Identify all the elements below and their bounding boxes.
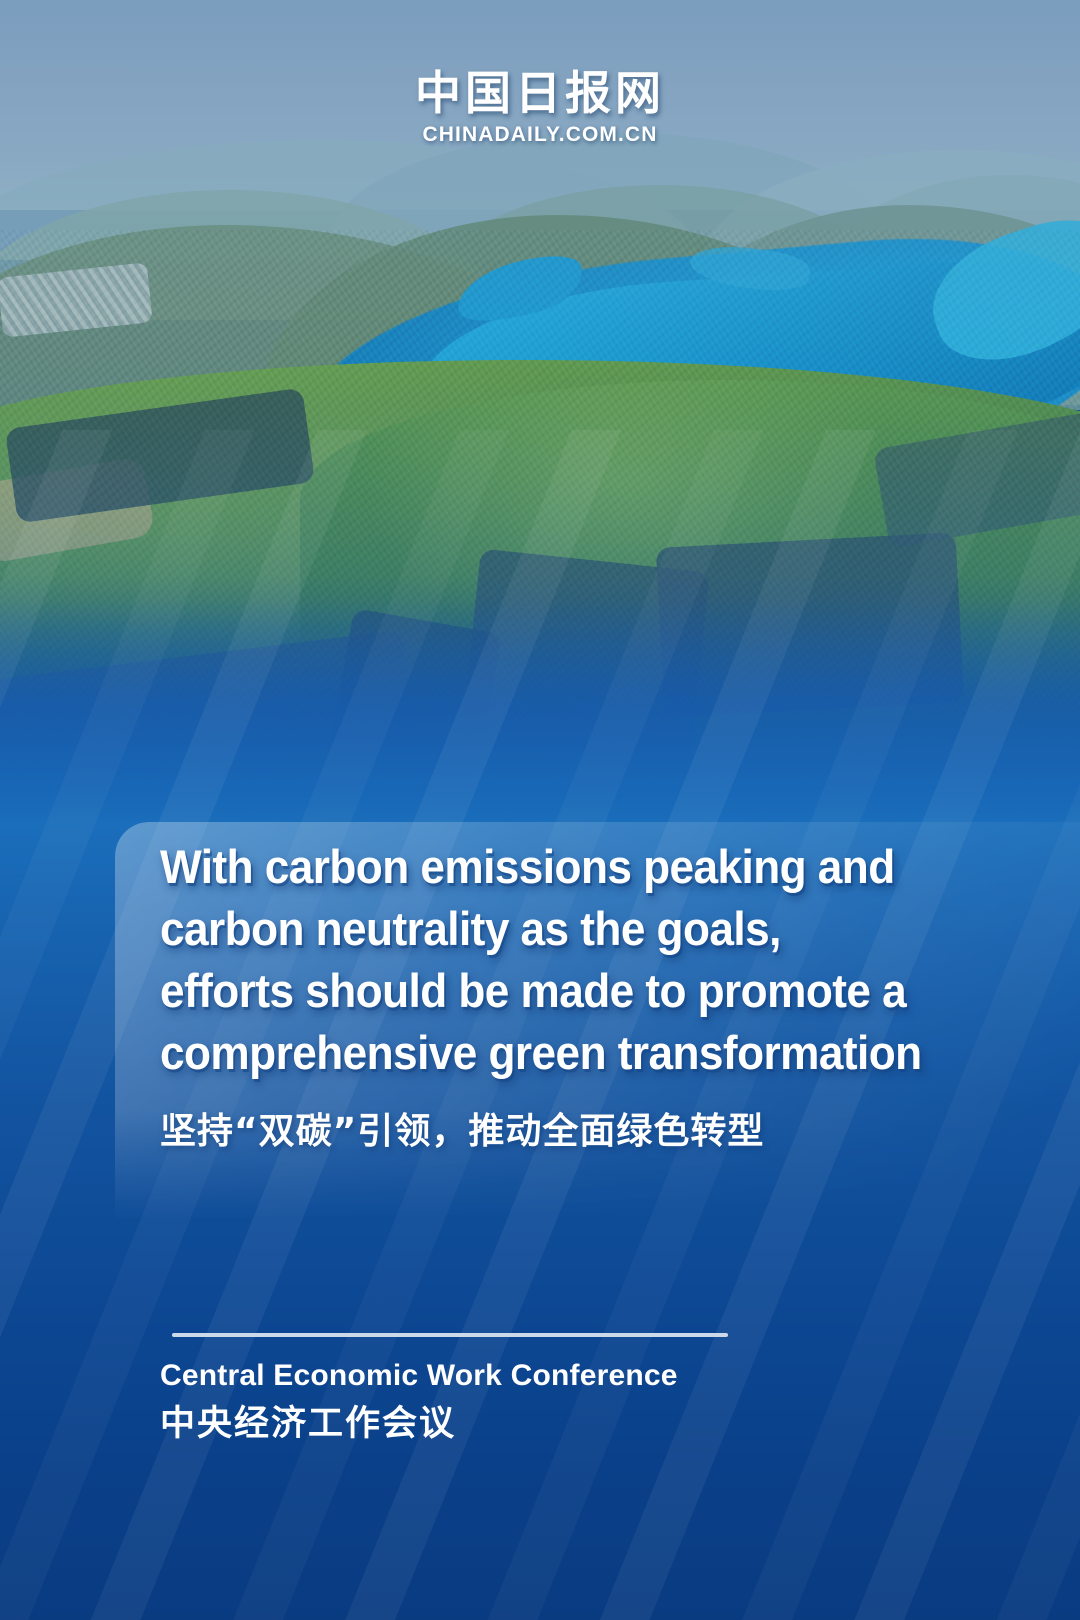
attribution-english: Central Economic Work Conference <box>160 1356 980 1396</box>
headline-english: With carbon emissions peaking and carbon… <box>160 836 931 1084</box>
chinadaily-logo[interactable]: 中国日报网 CHINADAILY.COM.CN <box>0 70 1080 147</box>
headline-line-2: carbon neutrality as the goals, <box>160 898 931 960</box>
attribution-block: Central Economic Work Conference 中央经济工作会… <box>160 1356 980 1446</box>
headline-line-1: With carbon emissions peaking and <box>160 836 931 898</box>
section-divider <box>172 1333 728 1337</box>
quote-content: With carbon emissions peaking and carbon… <box>160 836 980 1156</box>
headline-chinese: 坚持“双碳”引领，推动全面绿色转型 <box>160 1108 980 1156</box>
headline-line-4: comprehensive green transformation <box>160 1022 931 1084</box>
logo-chinese-text: 中国日报网 <box>0 70 1080 116</box>
poster-root: 中国日报网 CHINADAILY.COM.CN With carbon emis… <box>0 0 1080 1620</box>
logo-english-url: CHINADAILY.COM.CN <box>0 123 1080 147</box>
attribution-chinese: 中央经济工作会议 <box>160 1402 980 1446</box>
headline-line-3: efforts should be made to promote a <box>160 960 931 1022</box>
